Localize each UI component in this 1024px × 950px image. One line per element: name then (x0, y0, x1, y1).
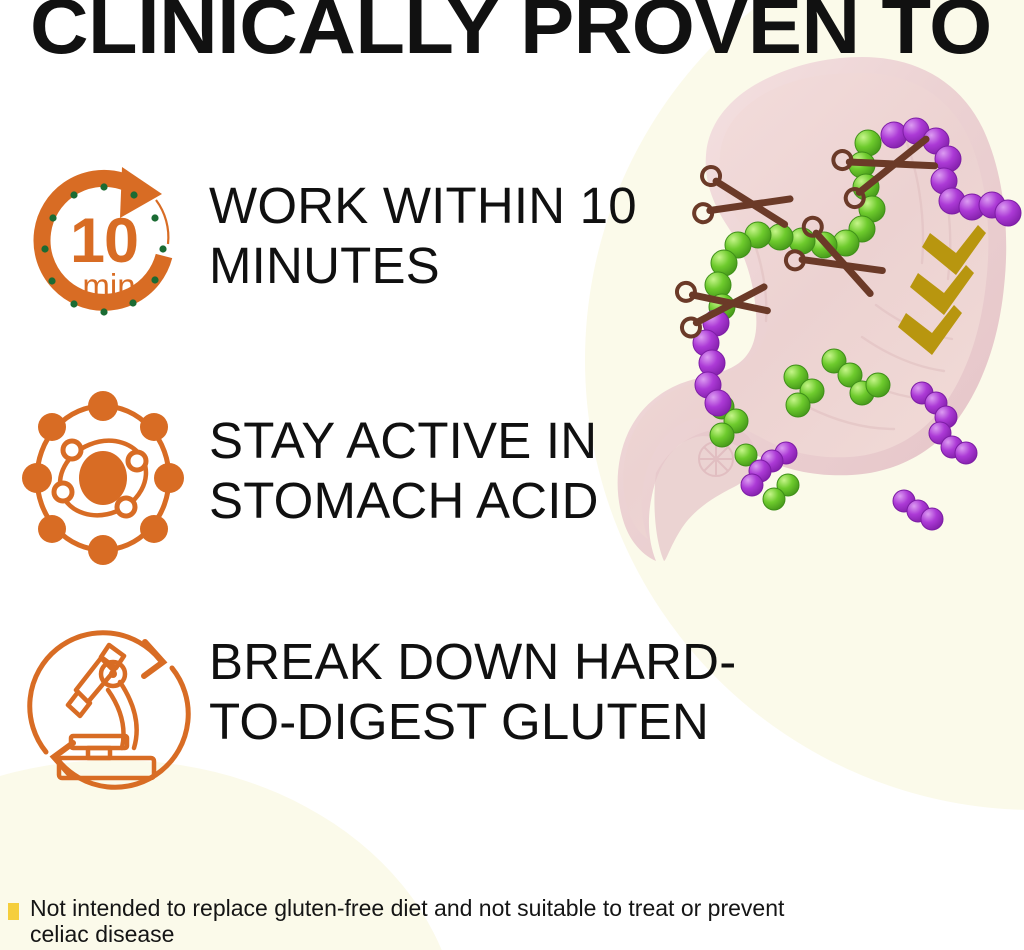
footnote-text: Not intended to replace gluten-free diet… (30, 896, 784, 948)
arrow-head-right (144, 642, 163, 676)
page-title: CLINICALLY PROVEN TO (30, 0, 992, 65)
microscope-glyph (59, 645, 154, 778)
footnote: Not intended to replace gluten-free diet… (8, 896, 784, 948)
stomach-digestion-illustration (600, 55, 1024, 575)
timer-unit-label: min (82, 267, 135, 304)
atom-molecule-icon (16, 385, 191, 571)
benefit-row-work-within-10-minutes: 10 min WORK WITHIN 10 MINUTES (16, 152, 637, 338)
microscope-cycle-icon (16, 612, 191, 808)
benefit-row-break-down-gluten: BREAK DOWN HARD- TO-DIGEST GLUTEN (16, 612, 736, 808)
dial-thin-arc (156, 200, 168, 244)
cycle-arrows (30, 633, 188, 787)
benefit-row-stay-active-in-stomach-acid: STAY ACTIVE IN STOMACH ACID (16, 385, 599, 571)
benefit-label: WORK WITHIN 10 MINUTES (209, 152, 637, 296)
timer-10-min-icon: 10 min (16, 152, 191, 338)
infographic-canvas: CLINICALLY PROVEN TO (0, 0, 1024, 950)
timer-value-label: 10 (70, 206, 138, 276)
pylorus-sphincter (699, 442, 733, 476)
benefit-label: STAY ACTIVE IN STOMACH ACID (209, 385, 599, 531)
nucleus (79, 451, 127, 505)
square-bullet-icon (8, 903, 19, 920)
benefit-label: BREAK DOWN HARD- TO-DIGEST GLUTEN (209, 612, 736, 752)
